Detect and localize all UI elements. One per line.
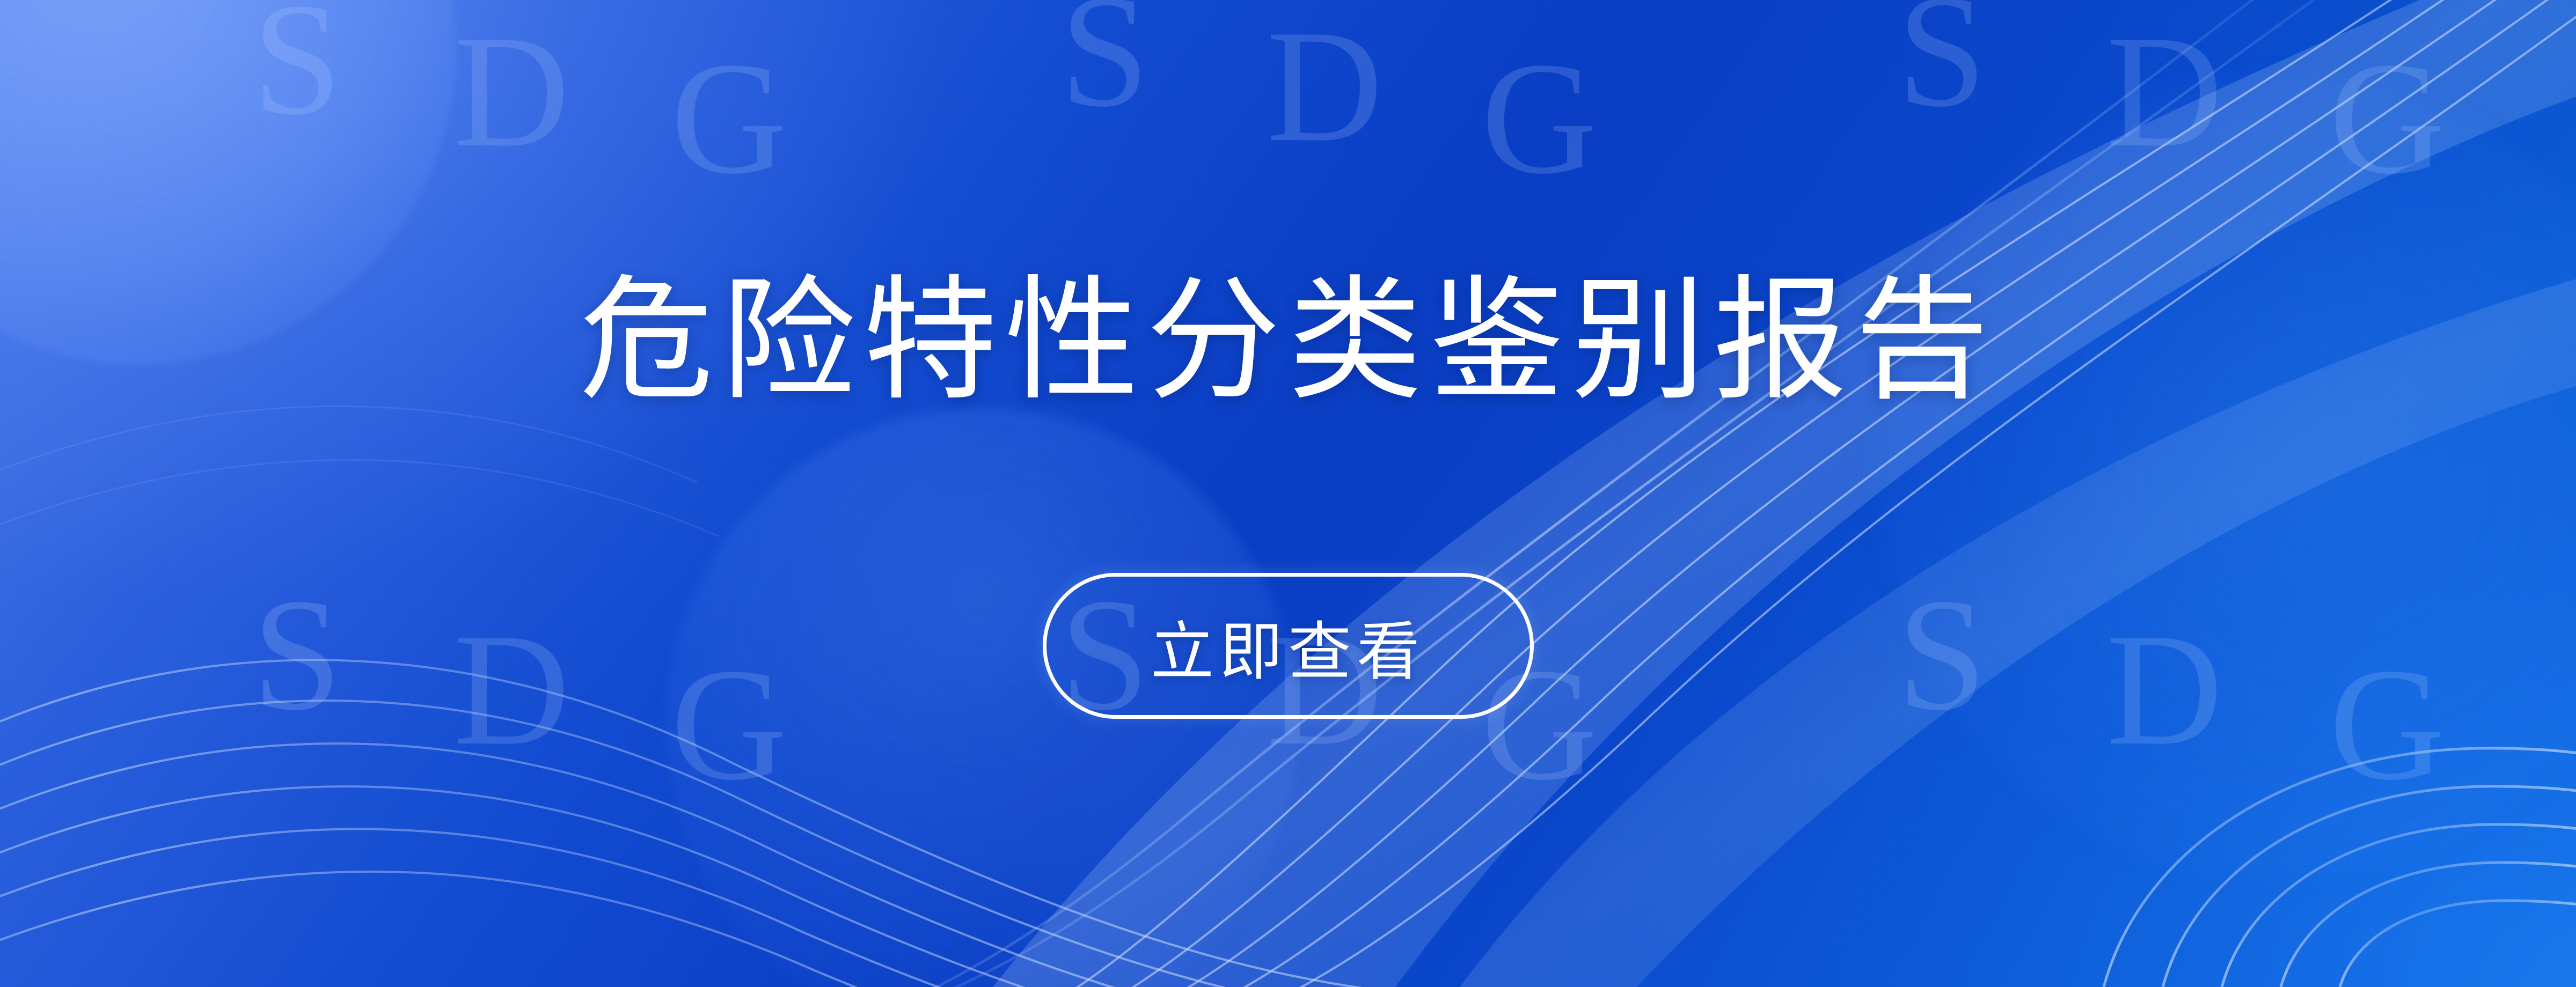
watermark-letter: G (671, 38, 787, 198)
promo-banner: SDGSDGSDGSDGSDGSDG 危险特性分类鉴别报告 立即查看 (0, 0, 2576, 987)
watermark-letter: G (2329, 38, 2446, 198)
watermark-letters: SDGSDGSDGSDGSDGSDG (0, 0, 2576, 987)
watermark-letter: G (1481, 38, 1598, 198)
watermark-letter: D (1267, 5, 1383, 166)
page-title: 危险特性分类鉴别报告 (0, 268, 2576, 413)
watermark-letter: S (1897, 0, 1987, 131)
watermark-letter: S (1060, 0, 1150, 131)
watermark-letter: D (453, 11, 570, 172)
cta-container: 立即查看 (0, 573, 2576, 719)
watermark-letter: S (252, 0, 342, 139)
view-now-button[interactable]: 立即查看 (1043, 573, 1534, 719)
watermark-letter: D (2106, 11, 2223, 172)
